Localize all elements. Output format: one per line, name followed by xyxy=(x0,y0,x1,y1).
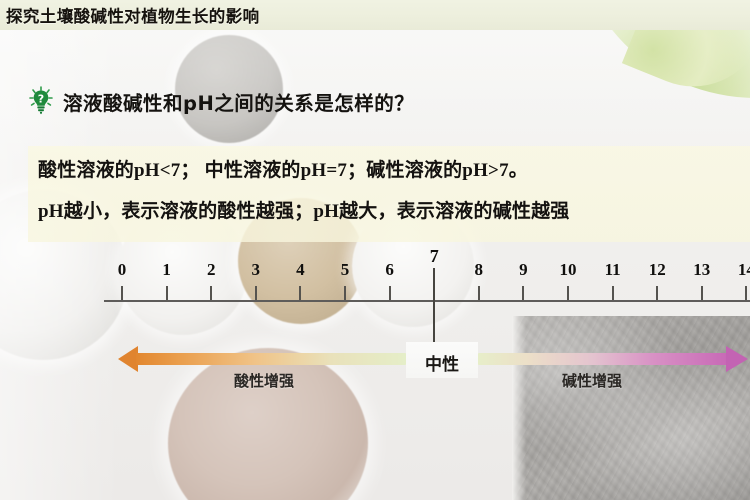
question-text: 溶液酸碱性和pH之间的关系是怎样的？ xyxy=(63,87,414,116)
lightbulb-question-icon: ? xyxy=(28,86,54,116)
alkali-arrow-head-icon xyxy=(726,346,748,372)
alkalinity-caption: 碱性增强 xyxy=(562,370,622,391)
ph-tick-mark-4 xyxy=(299,286,301,300)
ph-tick-mark-0 xyxy=(121,286,123,300)
ph-tick-label-8: 8 xyxy=(475,260,484,280)
acid-arrow-bar xyxy=(136,353,406,365)
ph-tick-label-10: 10 xyxy=(560,260,577,280)
ph-tick-label-5: 5 xyxy=(341,260,350,280)
ph-tick-mark-1 xyxy=(166,286,168,300)
acidity-alkalinity-arrows: 中性 xyxy=(0,340,750,402)
ph-tick-label-14: 14 xyxy=(738,260,750,280)
ph-tick-label-7: 7 xyxy=(430,246,439,267)
ph-tick-label-2: 2 xyxy=(207,260,216,280)
ph-tick-mark-5 xyxy=(344,286,346,300)
ph-axis-line xyxy=(104,300,750,302)
neutral-label: 中性 xyxy=(425,350,459,375)
ph-tick-label-6: 6 xyxy=(385,260,394,280)
ph-tick-label-0: 0 xyxy=(118,260,127,280)
ph-tick-mark-12 xyxy=(656,286,658,300)
ph-tick-mark-13 xyxy=(701,286,703,300)
page-title: 探究土壤酸碱性对植物生长的影响 xyxy=(0,3,260,27)
question-row: ? 溶液酸碱性和pH之间的关系是怎样的？ xyxy=(28,86,414,116)
ph-tick-mark-11 xyxy=(612,286,614,300)
ph-tick-label-1: 1 xyxy=(162,260,171,280)
statement-line-2: pH越小，表示溶液的酸性越强；pH越大，表示溶液的碱性越强 xyxy=(38,196,570,223)
ph-tick-mark-6 xyxy=(389,286,391,300)
ph-tick-label-4: 4 xyxy=(296,260,305,280)
ph-tick-label-3: 3 xyxy=(252,260,261,280)
ph-tick-label-12: 12 xyxy=(649,260,666,280)
ph-tick-label-13: 13 xyxy=(693,260,710,280)
ph-tick-label-11: 11 xyxy=(605,260,621,280)
acidity-caption: 酸性增强 xyxy=(234,370,294,391)
svg-text:?: ? xyxy=(38,93,44,106)
ph-tick-mark-9 xyxy=(522,286,524,300)
alkali-arrow-bar xyxy=(478,353,728,365)
acid-arrow-head-icon xyxy=(118,346,138,372)
ph-tick-mark-3 xyxy=(255,286,257,300)
ph-tick-label-9: 9 xyxy=(519,260,528,280)
ph-tick-mark-2 xyxy=(210,286,212,300)
ph-axis: 01234567891011121314 xyxy=(0,258,750,318)
ph-tick-mark-10 xyxy=(567,286,569,300)
ph-tick-mark-14 xyxy=(745,286,747,300)
ph-tick-mark-8 xyxy=(478,286,480,300)
title-bar: 探究土壤酸碱性对植物生长的影响 xyxy=(0,0,750,30)
statement-line-1: 酸性溶液的pH<7； 中性溶液的pH=7；碱性溶液的pH>7。 xyxy=(38,155,528,182)
slide-canvas: 探究土壤酸碱性对植物生长的影响 ? 溶液酸碱性 xyxy=(0,0,750,500)
